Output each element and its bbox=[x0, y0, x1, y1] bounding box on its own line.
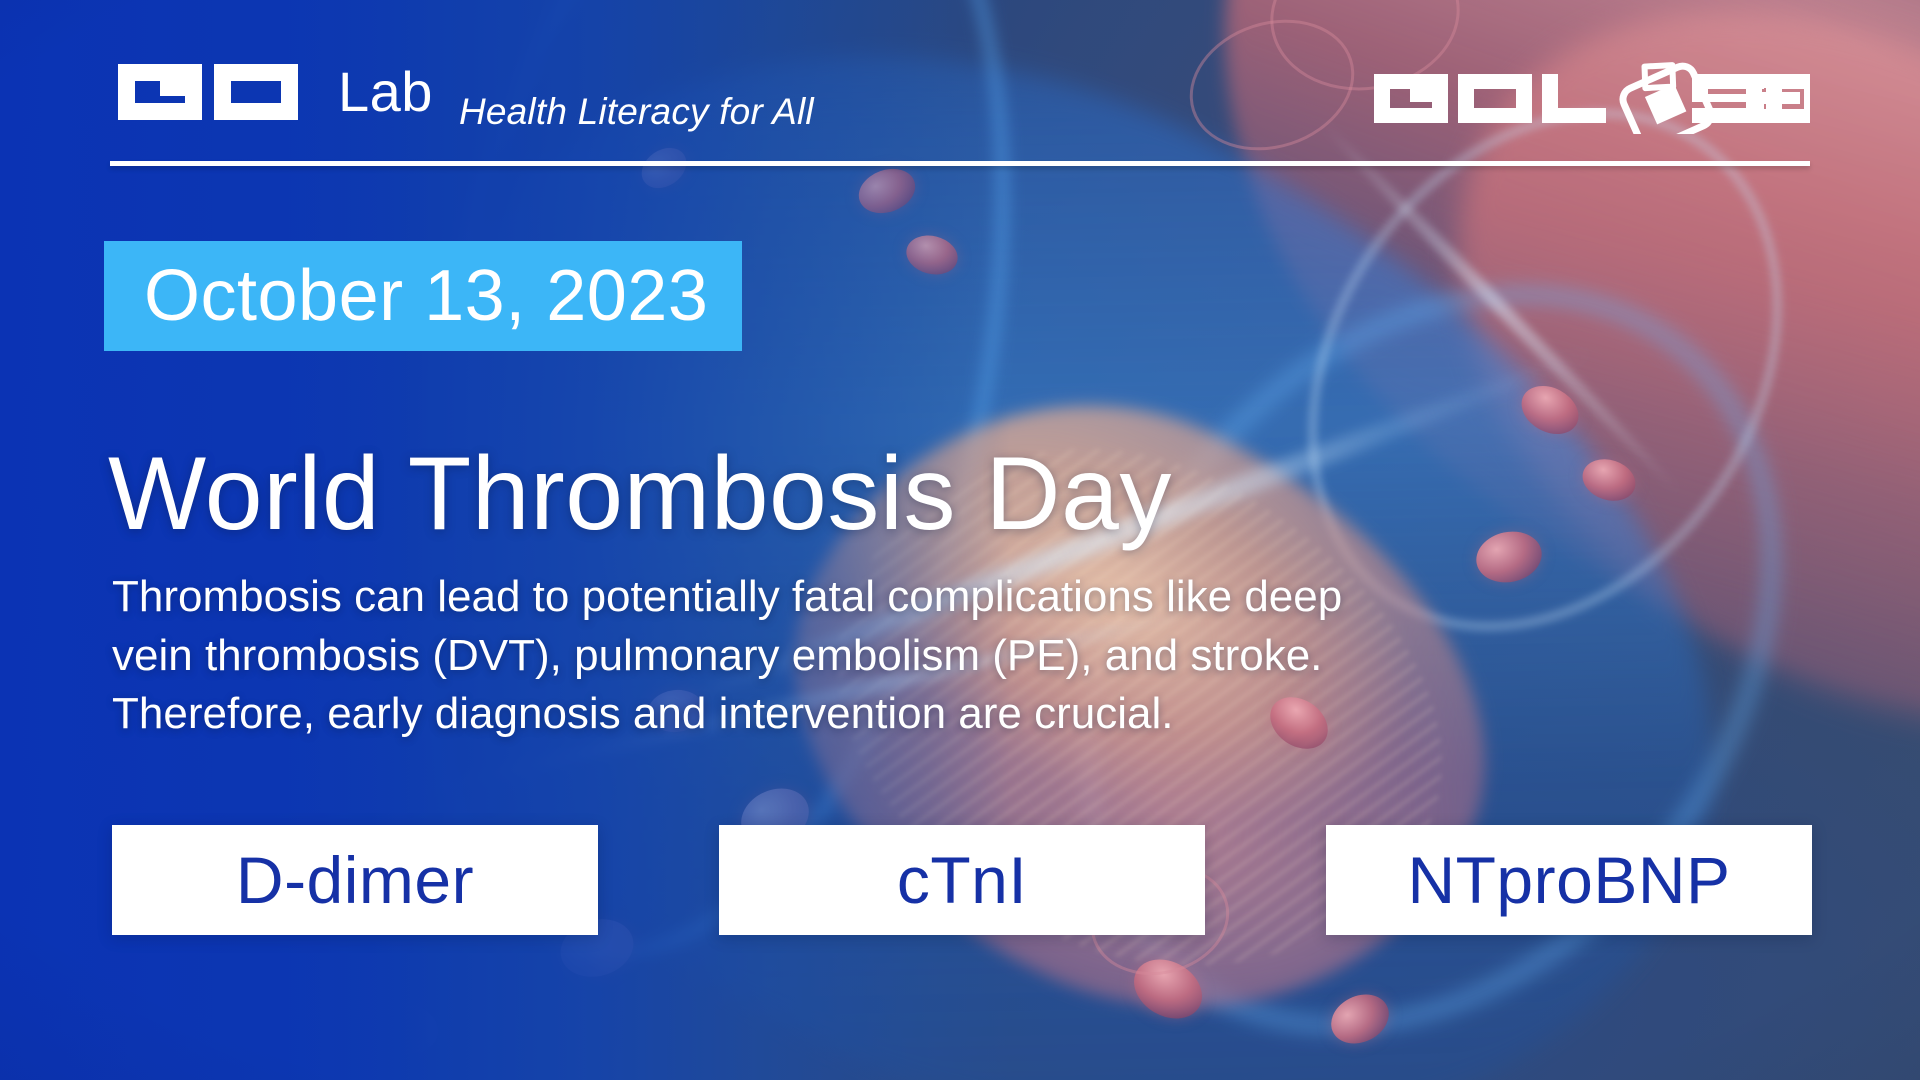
golab-logo-icon bbox=[110, 60, 328, 124]
golab-tagline: Health Literacy for All bbox=[459, 91, 814, 133]
golab-brand-lockup: Lab Health Literacy for All bbox=[110, 60, 814, 133]
biomarker-chip-label: NTproBNP bbox=[1407, 847, 1730, 913]
biomarker-chip-ctni[interactable]: cTnI bbox=[719, 825, 1205, 935]
goldsite-device-icon bbox=[1370, 58, 1810, 134]
biomarker-chip-label: cTnI bbox=[897, 847, 1027, 913]
date-badge-label: October 13, 2023 bbox=[144, 260, 708, 332]
biomarker-chip-d-dimer[interactable]: D-dimer bbox=[112, 825, 598, 935]
banner-header: Lab Health Literacy for All bbox=[110, 52, 1810, 140]
body-line-2: vein thrombosis (DVT), pulmonary embolis… bbox=[112, 627, 1852, 686]
header-divider bbox=[110, 161, 1810, 166]
biomarker-chip-label: D-dimer bbox=[236, 847, 474, 913]
world-thrombosis-day-banner: Lab Health Literacy for All bbox=[0, 0, 1920, 1080]
banner-content: Lab Health Literacy for All bbox=[0, 0, 1920, 1080]
goldsite-logo bbox=[1370, 58, 1810, 134]
body-line-1: Thrombosis can lead to potentially fatal… bbox=[112, 568, 1852, 627]
biomarker-chip-ntprobnp[interactable]: NTproBNP bbox=[1326, 825, 1812, 935]
biomarker-chip-row: D-dimer cTnI NTproBNP bbox=[112, 825, 1812, 935]
date-badge: October 13, 2023 bbox=[104, 241, 742, 351]
golab-logo-word: Lab bbox=[338, 64, 433, 120]
golab-logo: Lab bbox=[110, 60, 433, 124]
page-title: World Thrombosis Day bbox=[108, 442, 1172, 546]
body-line-3: Therefore, early diagnosis and intervent… bbox=[112, 685, 1852, 744]
body-paragraph: Thrombosis can lead to potentially fatal… bbox=[112, 568, 1852, 744]
